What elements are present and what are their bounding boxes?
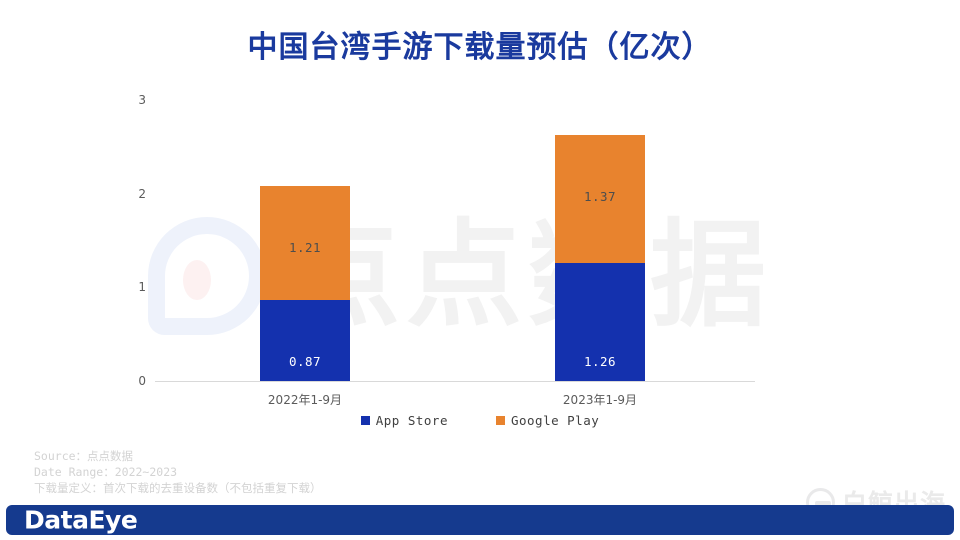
footer-bar: DataEye [6,505,954,535]
legend-swatch-app-store [361,416,370,425]
legend-label-app-store: App Store [376,413,448,428]
bar-segment-app-store-2022[interactable]: 0.87 [260,300,350,382]
bar-value-label-google-play-2023: 1.37 [555,189,645,204]
slide-canvas: 点点数据 中国台湾手游下载量预估（亿次） 0 1 2 3 1.21 0.87 1… [0,0,960,540]
x-axis-tick-2022: 2022年1-9月 [205,391,405,408]
y-axis-tick-2: 2 [108,187,146,201]
bar-segment-google-play-2022[interactable]: 1.21 [260,186,350,299]
x-axis-tick-2023: 2023年1-9月 [500,391,700,408]
dataeye-logo: DataEye [24,506,137,535]
footnote-definition: 下载量定义：首次下载的去重设备数（不包括重复下载） [34,480,322,496]
bar-group-2023: 1.37 1.26 [555,135,645,381]
y-axis-tick-3: 3 [108,93,146,107]
bar-value-label-app-store-2022: 0.87 [260,354,350,369]
bar-segment-app-store-2023[interactable]: 1.26 [555,263,645,381]
chart-footnotes: Source：点点数据 Date Range：2022~2023 下载量定义：首… [34,448,322,496]
legend-label-google-play: Google Play [511,413,599,428]
footnote-source: Source：点点数据 [34,448,322,464]
legend-swatch-google-play [496,416,505,425]
bar-segment-google-play-2023[interactable]: 1.37 [555,135,645,263]
chart-legend: App Store Google Play [0,413,960,428]
bar-value-label-google-play-2022: 1.21 [260,240,350,255]
chart-title: 中国台湾手游下载量预估（亿次） [0,22,960,66]
x-axis-line [155,381,755,382]
footnote-date-range: Date Range：2022~2023 [34,464,322,480]
bar-group-2022: 1.21 0.87 [260,186,350,381]
y-axis-tick-1: 1 [108,280,146,294]
bar-value-label-app-store-2023: 1.26 [555,354,645,369]
y-axis-tick-0: 0 [108,374,146,388]
legend-item-app-store[interactable]: App Store [361,413,448,428]
legend-item-google-play[interactable]: Google Play [496,413,599,428]
